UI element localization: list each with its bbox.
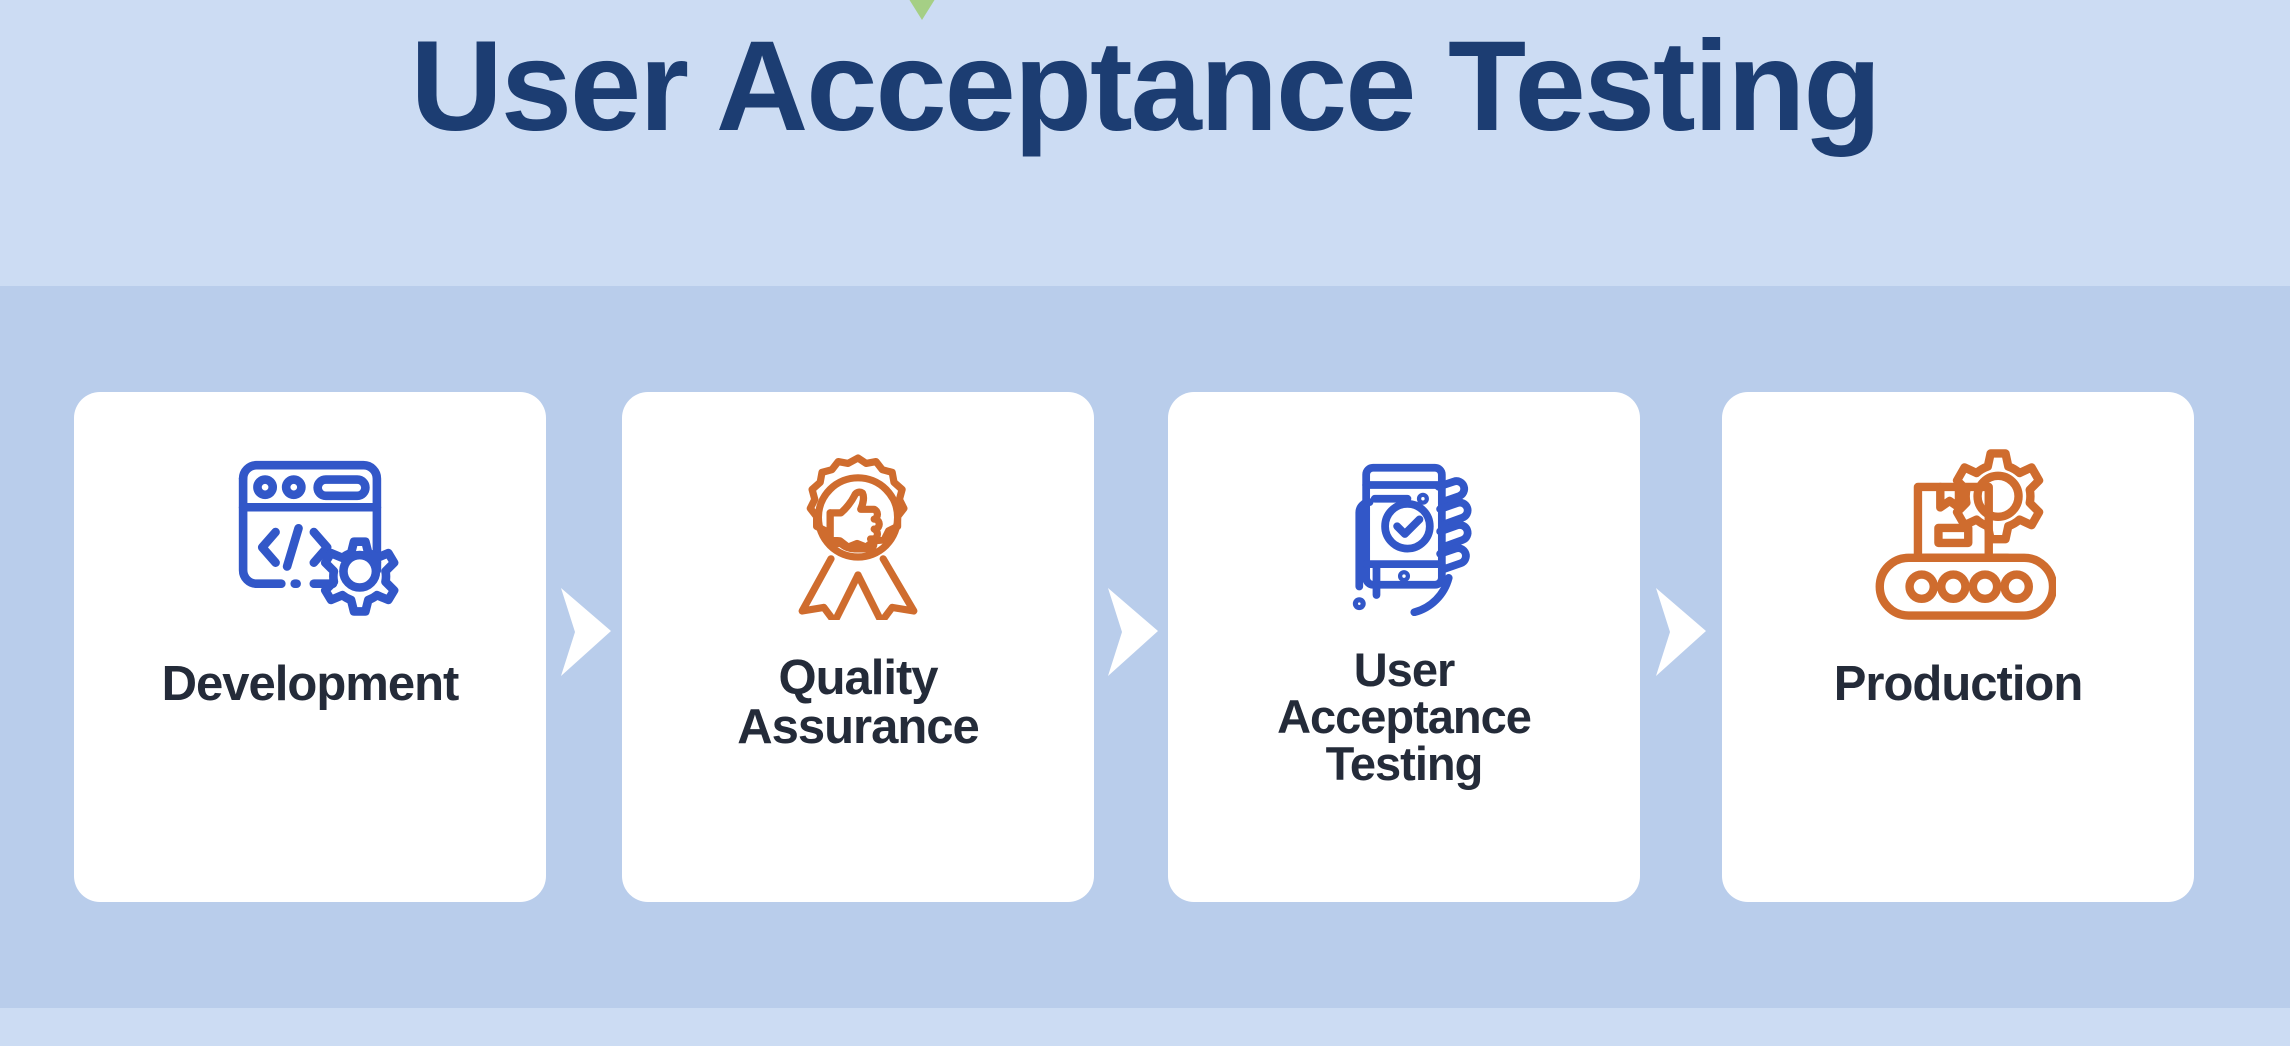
stage-label-line-1: Quality xyxy=(778,651,937,705)
chevron-right-icon xyxy=(551,584,619,680)
stage-label-line-2: Acceptance xyxy=(1277,690,1531,743)
slide-canvas: User Acceptance Testing xyxy=(0,0,2290,1046)
stage-label-user-acceptance-testing: UserAcceptanceTesting xyxy=(1168,646,1640,787)
hand-phone-check-icon xyxy=(1318,434,1490,634)
conveyor-box-gear-icon xyxy=(1860,434,2056,634)
process-flow: Development xyxy=(0,392,2290,902)
chevron-right-icon xyxy=(1646,584,1714,680)
stage-card-quality-assurance[interactable]: QualityAssurance xyxy=(622,392,1094,902)
stage-label-line-3: Testing xyxy=(1326,737,1483,790)
chevron-right-icon xyxy=(1098,584,1166,680)
stage-label-production: Production xyxy=(1722,660,2194,709)
award-ribbon-thumbs-up-icon xyxy=(768,434,948,634)
stage-card-user-acceptance-testing[interactable]: UserAcceptanceTesting xyxy=(1168,392,1640,902)
stage-label-quality-assurance: QualityAssurance xyxy=(622,654,1094,752)
stage-label-development: Development xyxy=(74,660,546,709)
footer-band xyxy=(0,1008,2290,1046)
stage-card-development[interactable]: Development xyxy=(74,392,546,902)
page-title: User Acceptance Testing xyxy=(0,22,2290,153)
stage-label-line-1: User xyxy=(1354,643,1455,696)
code-window-gear-icon xyxy=(214,434,406,634)
stage-card-production[interactable]: Production xyxy=(1722,392,2194,902)
stage-label-line-2: Assurance xyxy=(737,700,979,754)
